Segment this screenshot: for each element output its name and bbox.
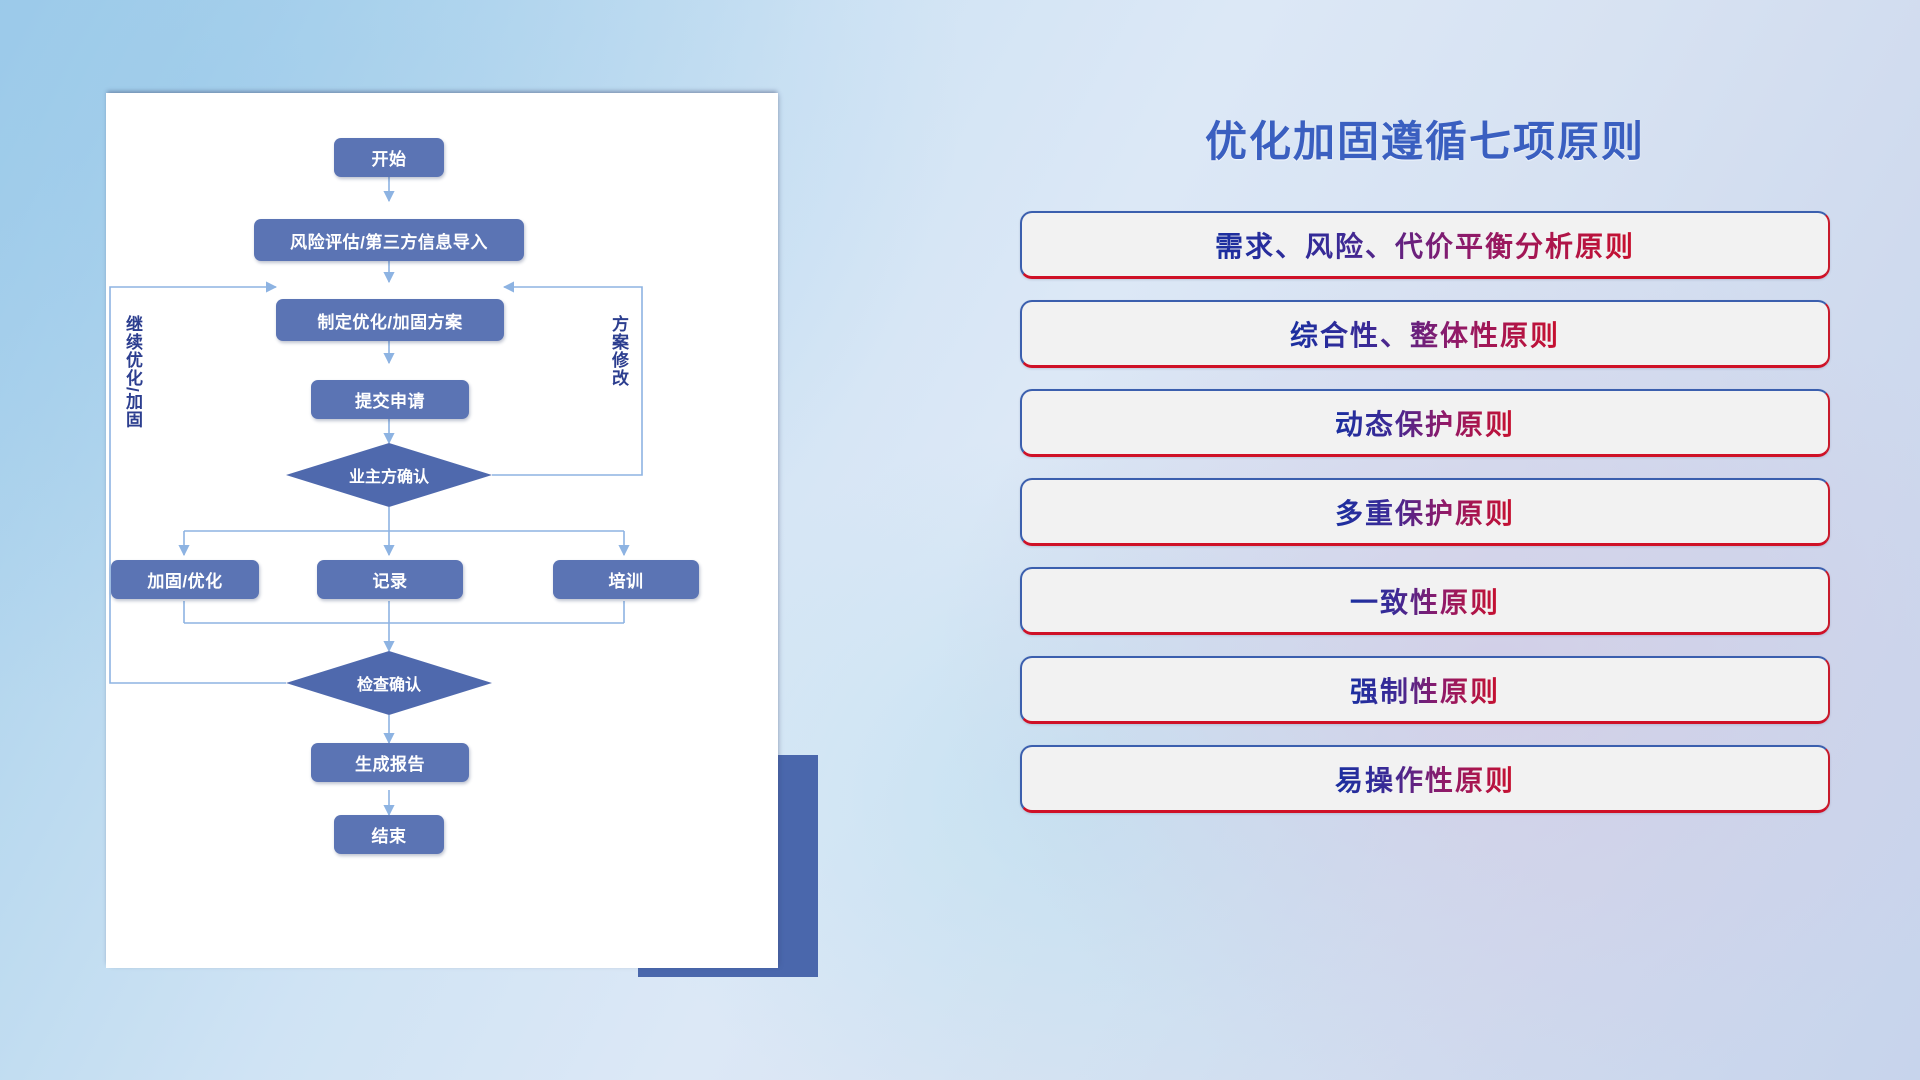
- principle-card-3[interactable]: 动态保护原则: [1020, 389, 1830, 457]
- principle-card-1[interactable]: 需求、风险、代价平衡分析原则: [1020, 211, 1830, 279]
- principle-label: 需求、风险、代价平衡分析原则: [1215, 225, 1635, 265]
- principle-label: 强制性原则: [1350, 670, 1500, 710]
- flow-node-label: 生成报告: [355, 750, 425, 775]
- flow-node-label: 开始: [372, 145, 407, 170]
- flow-node-submit-application[interactable]: 提交申请: [311, 380, 469, 419]
- flow-node-check-confirm[interactable]: 检查确认: [286, 651, 492, 715]
- flow-node-label: 结束: [372, 822, 407, 847]
- flow-node-owner-confirm[interactable]: 业主方确认: [286, 443, 492, 507]
- principles-panel: 优化加固遵循七项原则 需求、风险、代价平衡分析原则 综合性、整体性原则 动态保护…: [1020, 80, 1830, 834]
- flow-node-label: 加固/优化: [147, 567, 222, 592]
- flow-node-record[interactable]: 记录: [317, 560, 463, 599]
- principle-label: 易操作性原则: [1335, 759, 1515, 799]
- flow-node-label: 制定优化/加固方案: [317, 308, 462, 333]
- principle-label: 动态保护原则: [1335, 403, 1515, 443]
- flow-node-start[interactable]: 开始: [334, 138, 444, 177]
- flow-node-end[interactable]: 结束: [334, 815, 444, 854]
- principle-card-4[interactable]: 多重保护原则: [1020, 478, 1830, 546]
- principles-list: 需求、风险、代价平衡分析原则 综合性、整体性原则 动态保护原则 多重保护原则 一…: [1020, 211, 1830, 813]
- flow-node-plan[interactable]: 制定优化/加固方案: [276, 299, 504, 341]
- flow-node-label: 业主方确认: [349, 463, 429, 487]
- principle-label: 综合性、整体性原则: [1290, 314, 1560, 354]
- principle-card-5[interactable]: 一致性原则: [1020, 567, 1830, 635]
- flow-node-label: 提交申请: [355, 387, 425, 412]
- flowchart-card: 开始 风险评估/第三方信息导入 制定优化/加固方案 提交申请 业主方确认 加固/…: [106, 93, 778, 968]
- flow-node-label: 检查确认: [357, 671, 421, 695]
- flow-node-label: 风险评估/第三方信息导入: [290, 228, 488, 253]
- edge-label-plan-revision: 方案修改: [610, 315, 627, 387]
- principle-card-6[interactable]: 强制性原则: [1020, 656, 1830, 724]
- flow-node-risk-assessment[interactable]: 风险评估/第三方信息导入: [254, 219, 524, 261]
- flow-node-label: 培训: [609, 567, 644, 592]
- flow-node-reinforce[interactable]: 加固/优化: [111, 560, 259, 599]
- principle-card-2[interactable]: 综合性、整体性原则: [1020, 300, 1830, 368]
- flow-node-label: 记录: [373, 567, 408, 592]
- page-title: 优化加固遵循七项原则: [1020, 108, 1830, 169]
- slide-root: 开始 风险评估/第三方信息导入 制定优化/加固方案 提交申请 业主方确认 加固/…: [0, 0, 1920, 1080]
- flow-node-generate-report[interactable]: 生成报告: [311, 743, 469, 782]
- flow-node-training[interactable]: 培训: [553, 560, 699, 599]
- principle-label: 一致性原则: [1350, 581, 1500, 621]
- principle-label: 多重保护原则: [1335, 492, 1515, 532]
- edge-label-continue-optimize: 继续优化/加固: [124, 315, 141, 429]
- principle-card-7[interactable]: 易操作性原则: [1020, 745, 1830, 813]
